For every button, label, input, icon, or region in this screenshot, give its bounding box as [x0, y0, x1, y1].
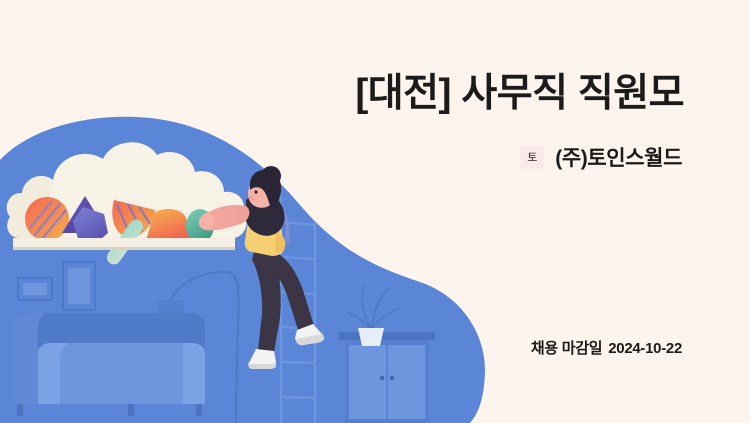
- orange-striped-sphere: [25, 197, 69, 241]
- cabinet-handle: [380, 376, 384, 380]
- sofa-leg: [196, 404, 202, 416]
- page-title: [대전] 사무직 직원모: [355, 72, 684, 116]
- company-name: (주)토인스월드: [555, 142, 682, 172]
- cabinet-top: [339, 332, 435, 340]
- sofa: [14, 313, 205, 416]
- company-logo-badge: 토: [520, 145, 544, 169]
- shelf-board: [13, 238, 235, 247]
- sofa-leg: [128, 404, 134, 416]
- illustration-artwork: [0, 0, 750, 423]
- cabinet-handle: [390, 376, 394, 380]
- job-posting-card: [대전] 사무직 직원모 토 (주)토인스월드 채용 마감일2024-10-22: [0, 0, 750, 423]
- shelf-board-edge: [13, 247, 235, 250]
- plant-pot: [358, 328, 384, 346]
- deadline-text: 채용 마감일2024-10-22: [531, 337, 682, 358]
- cabinet: [339, 332, 435, 423]
- sofa-leg: [17, 404, 23, 416]
- deadline-label: 채용 마감일: [531, 340, 602, 357]
- eye: [254, 190, 257, 193]
- company-row: 토 (주)토인스월드: [520, 142, 682, 172]
- lamp-shade: [158, 300, 184, 314]
- deadline-date: 2024-10-22: [608, 340, 682, 357]
